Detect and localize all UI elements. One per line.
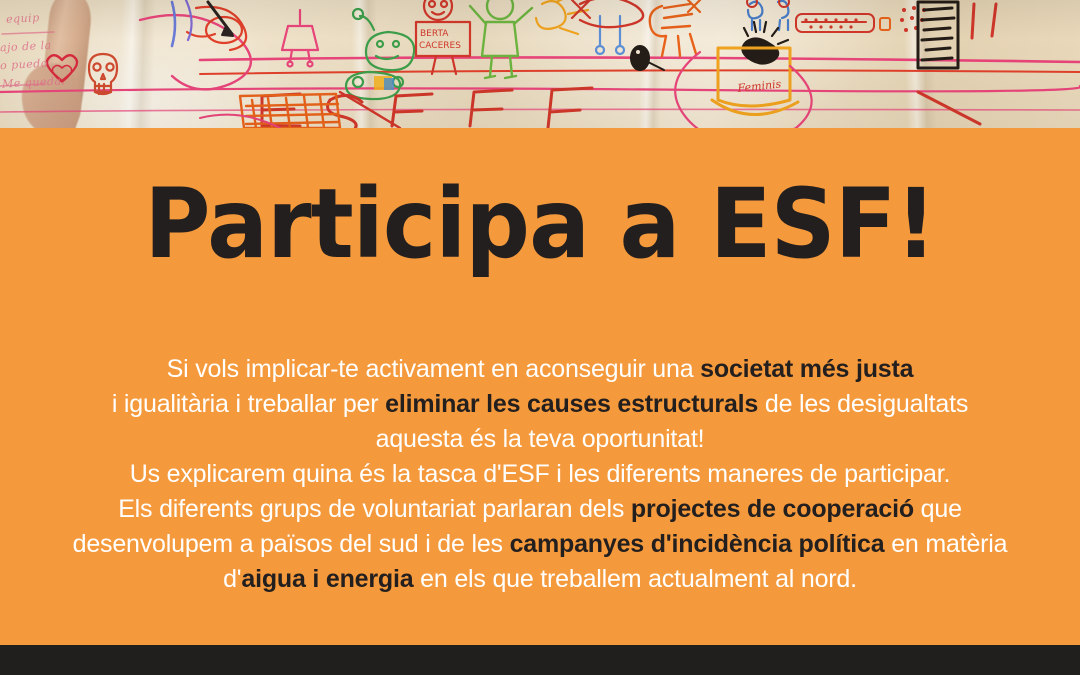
- body-copy: Si vols implicar-te activament en aconse…: [0, 352, 1080, 597]
- body-line: Els diferents grups de voluntariat parla…: [0, 492, 1080, 527]
- body-line: Us explicarem quina és la tasca d'ESF i …: [0, 457, 1080, 492]
- body-line: desenvolupem a països del sud i de les c…: [0, 527, 1080, 562]
- body-text: aquesta és la teva oportunitat!: [376, 425, 705, 453]
- svg-text:Feminis: Feminis: [736, 77, 782, 95]
- svg-text:CACERES: CACERES: [419, 41, 461, 51]
- header-photo: BERTA CACERES: [0, 0, 1080, 128]
- body-text: que: [914, 495, 962, 523]
- orange-panel: Participa a ESF! Si vols implicar-te act…: [0, 128, 1080, 645]
- body-highlight: campanyes d'incidència política: [510, 530, 885, 558]
- handwritten-note: ajo de la: [0, 39, 52, 55]
- page-title: Participa a ESF!: [32, 176, 1047, 272]
- body-highlight: societat més justa: [700, 355, 913, 383]
- body-line: d'aigua i energia en els que treballem a…: [0, 562, 1080, 597]
- childrens-drawings: BERTA CACERES: [0, 0, 1080, 128]
- body-highlight: projectes de cooperació: [631, 495, 914, 523]
- body-line: aquesta és la teva oportunitat!: [0, 422, 1080, 457]
- body-text: i igualitària i treballar per: [112, 390, 385, 418]
- body-text: de les desigualtats: [758, 390, 968, 418]
- body-line: Si vols implicar-te activament en aconse…: [0, 352, 1080, 387]
- body-line: i igualitària i treballar per eliminar l…: [0, 387, 1080, 422]
- poster: BERTA CACERES: [0, 0, 1080, 675]
- body-text: d': [223, 565, 241, 593]
- body-highlight: aigua i energia: [241, 565, 413, 593]
- body-text: Els diferents grups de voluntariat parla…: [118, 495, 631, 523]
- bottom-bar: [0, 645, 1080, 675]
- body-highlight: eliminar les causes estructurals: [385, 390, 758, 418]
- body-text: Us explicarem quina és la tasca d'ESF i …: [130, 460, 951, 488]
- body-text: en els que treballem actualment al nord.: [413, 565, 856, 593]
- svg-text:BERTA: BERTA: [420, 29, 449, 39]
- body-text: Si vols implicar-te activament en aconse…: [167, 355, 701, 383]
- handwritten-note: equip: [6, 11, 40, 26]
- body-text: en matèria: [884, 530, 1007, 558]
- body-text: desenvolupem a països del sud i de les: [73, 530, 510, 558]
- handwritten-note: o puedo: [0, 57, 48, 72]
